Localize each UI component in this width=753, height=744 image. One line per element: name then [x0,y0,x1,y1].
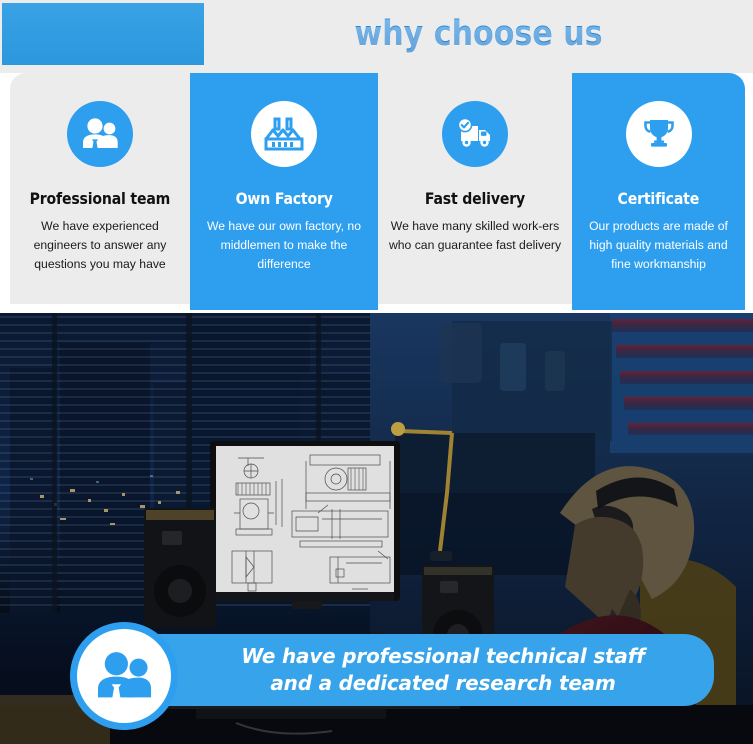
feature-card-description: We have experienced engineers to answer … [16,217,184,274]
header-accent-block [2,3,204,65]
people-icon [70,622,178,730]
people-icon [67,101,133,167]
factory-icon [251,101,317,167]
banner-pill: We have professional technical staff and… [112,634,714,706]
delivery-truck-icon [442,101,508,167]
why-choose-us-page: why choose us Professional team We have … [0,0,753,744]
page-header: why choose us [0,0,753,73]
feature-card-title: Fast delivery [425,189,525,208]
banner-text: We have professional technical staff and… [241,643,644,697]
page-title: why choose us [242,0,714,67]
feature-card-title: Certificate [618,189,700,208]
feature-card-description: We have our own factory, no middlemen to… [196,217,372,274]
feature-card-description: We have many skilled work-ers who can gu… [384,217,566,255]
feature-card-title: Professional team [30,189,171,208]
feature-card-description: Our products are made of high quality ma… [578,217,739,274]
feature-card-professional-team[interactable]: Professional team We have experienced en… [10,73,190,304]
feature-cards: Professional team We have experienced en… [0,73,753,313]
feature-card-fast-delivery[interactable]: Fast delivery We have many skilled work-… [378,73,572,304]
feature-card-own-factory[interactable]: Own Factory We have our own factory, no … [190,73,378,310]
trophy-icon [626,101,692,167]
feature-card-certificate[interactable]: Certificate Our products are made of hig… [572,73,745,310]
feature-card-title: Own Factory [235,189,332,208]
bottom-banner: We have professional technical staff and… [70,622,680,714]
